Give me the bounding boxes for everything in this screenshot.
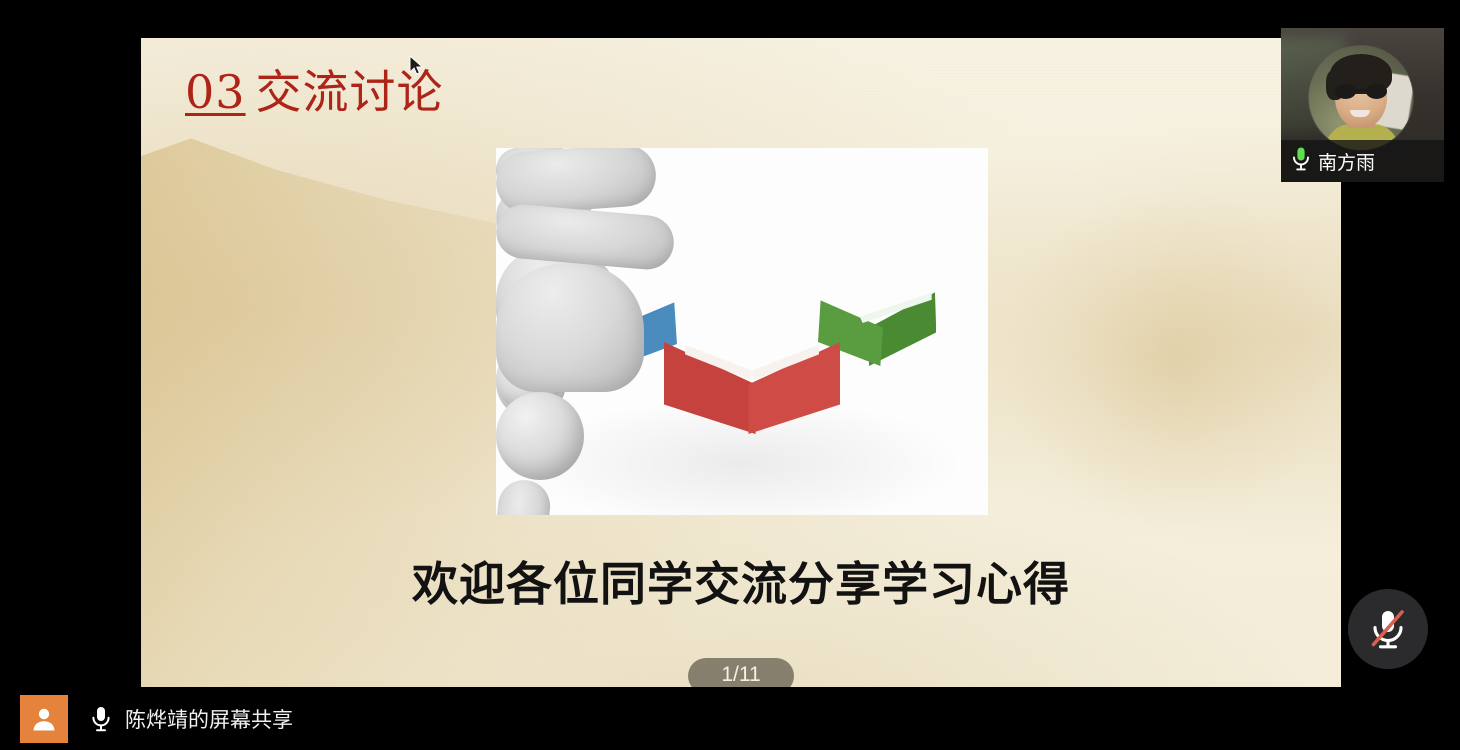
person-icon [30,705,58,733]
slide-caption: 欢迎各位同学交流分享学习心得 [141,548,1341,614]
tile-label-bar: 南方雨 [1281,140,1444,182]
slide-image [496,148,988,515]
slide-title-number: 03 [185,65,246,119]
book-red [664,342,840,434]
microphone-icon [1291,146,1311,177]
slide-title-text: 交流讨论 [256,65,444,119]
slide-title: 03交流讨论 [185,66,444,119]
bottom-bar: 陈烨靖的屏幕共享 [0,687,1460,750]
avatar [1309,46,1413,150]
participant-name: 南方雨 [1318,148,1375,175]
sunglasses-icon [1335,84,1387,99]
mic-muted-icon [1367,606,1409,652]
shared-slide[interactable]: 03交流讨论 [141,38,1341,713]
figure-center [496,148,674,515]
meeting-screen: 03交流讨论 [0,0,1460,750]
bottom-bar-microphone-icon[interactable] [90,705,112,733]
share-status-text: 陈烨靖的屏幕共享 [125,704,293,734]
illustration-stage [496,148,988,515]
participant-video-tile[interactable]: 南方雨 [1281,28,1444,182]
mute-toggle-button[interactable] [1348,589,1428,669]
share-thumbnail-button[interactable] [20,695,68,743]
